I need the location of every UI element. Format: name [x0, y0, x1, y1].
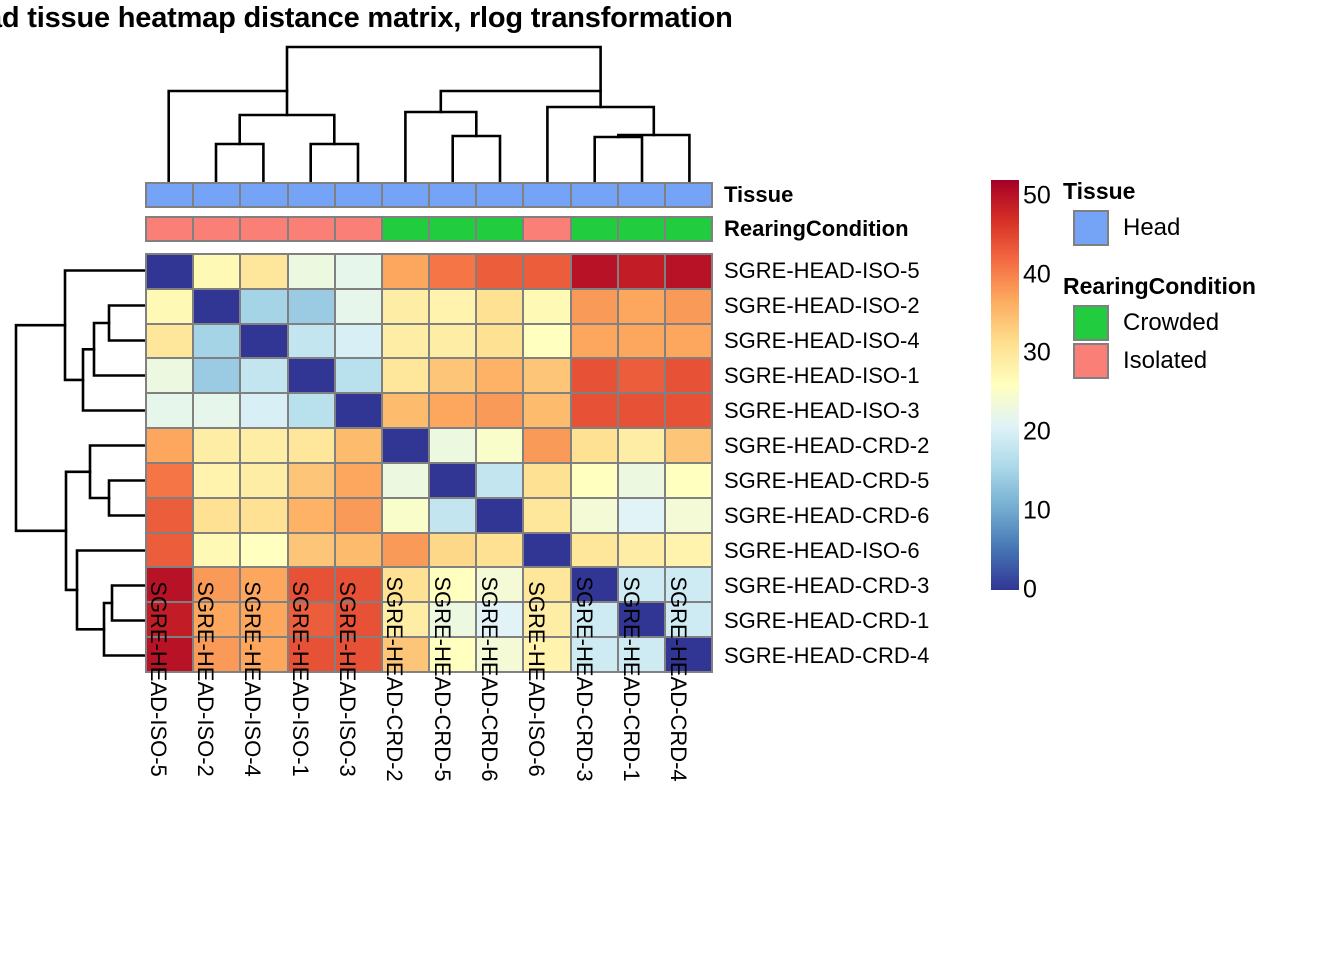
- legend-block-tissue: TissueHead: [1063, 178, 1333, 247]
- heatmap-cell: [194, 534, 239, 567]
- heatmap-cell: [666, 394, 711, 427]
- annotation-cell-rearingcondition: [194, 218, 239, 240]
- heatmap-cell: [336, 290, 381, 323]
- legend-title: Tissue: [1063, 178, 1333, 205]
- annotation-cell-tissue: [147, 184, 192, 206]
- column-label-slot: SGRE-HEAD-CRD-3: [571, 679, 618, 954]
- heatmap-cell: [147, 290, 192, 323]
- annotation-cell-rearingcondition: [289, 218, 334, 240]
- colorbar-tick: 0: [1023, 578, 1037, 603]
- heatmap-cell: [666, 359, 711, 392]
- heatmap-cell: [524, 325, 569, 358]
- legend-entry-label: Crowded: [1123, 309, 1219, 337]
- heatmap-cell: [524, 255, 569, 288]
- heatmap-cell: [572, 429, 617, 462]
- annotation-cell-rearingcondition: [336, 218, 381, 240]
- heatmap-cell: [383, 290, 428, 323]
- row-label: SGRE-HEAD-CRD-5: [724, 463, 1024, 498]
- heatmap-cell: [336, 464, 381, 497]
- annotation-cell-rearingcondition: [524, 218, 569, 240]
- heatmap-cell: [477, 290, 522, 323]
- column-label: SGRE-HEAD-CRD-5: [431, 576, 453, 781]
- heatmap-cell: [619, 499, 664, 532]
- heatmap-cell: [194, 499, 239, 532]
- column-label: SGRE-HEAD-CRD-3: [573, 576, 595, 781]
- annotation-cell-tissue: [194, 184, 239, 206]
- heatmap-cell: [241, 394, 286, 427]
- column-label: SGRE-HEAD-ISO-3: [336, 581, 358, 777]
- heatmap-cell: [336, 429, 381, 462]
- heatmap-cell: [572, 464, 617, 497]
- heatmap-cell: [383, 499, 428, 532]
- row-label: SGRE-HEAD-ISO-1: [724, 358, 1024, 393]
- heatmap-cell: [430, 499, 475, 532]
- heatmap-cell: [241, 499, 286, 532]
- heatmap-cell: [194, 325, 239, 358]
- heatmap-cell: [147, 464, 192, 497]
- row-label: SGRE-HEAD-ISO-4: [724, 323, 1024, 358]
- heatmap-cell: [430, 429, 475, 462]
- heatmap-cell: [383, 394, 428, 427]
- heatmap-cell: [194, 464, 239, 497]
- heatmap-cell: [619, 325, 664, 358]
- heatmap-cell: [336, 359, 381, 392]
- column-label: SGRE-HEAD-CRD-6: [478, 576, 500, 781]
- heatmap-cell: [572, 325, 617, 358]
- colorbar-tick: 50: [1023, 183, 1051, 208]
- heatmap-cell: [666, 534, 711, 567]
- heatmap-cell: [430, 290, 475, 323]
- annotation-bar-rearingcondition: [145, 216, 713, 242]
- heatmap-cell: [524, 290, 569, 323]
- column-label: SGRE-HEAD-ISO-1: [289, 581, 311, 777]
- heatmap-cell: [383, 255, 428, 288]
- annotation-cell-rearingcondition: [383, 218, 428, 240]
- heatmap-cell: [572, 255, 617, 288]
- heatmap-cell: [241, 429, 286, 462]
- heatmap-cell: [241, 534, 286, 567]
- heatmap-cell: [336, 534, 381, 567]
- row-label: SGRE-HEAD-ISO-2: [724, 288, 1024, 323]
- heatmap-cell: [383, 325, 428, 358]
- annotation-cell-rearingcondition: [572, 218, 617, 240]
- heatmap-cell: [477, 255, 522, 288]
- annotation-cell-tissue: [619, 184, 664, 206]
- heatmap-cell: [241, 290, 286, 323]
- colorbar-tick: 30: [1023, 341, 1051, 366]
- legend-panel: TissueHeadRearingConditionCrowdedIsolate…: [1063, 178, 1333, 380]
- heatmap-cell: [383, 359, 428, 392]
- annotation-cell-rearingcondition: [147, 218, 192, 240]
- heatmap-cell: [430, 325, 475, 358]
- heatmap-cell: [289, 359, 334, 392]
- heatmap-cell: [289, 290, 334, 323]
- legend-title: RearingCondition: [1063, 273, 1333, 300]
- annotation-cell-tissue: [289, 184, 334, 206]
- heatmap-cell: [430, 534, 475, 567]
- heatmap-cell: [241, 255, 286, 288]
- annotation-label-rearingcondition: RearingCondition: [724, 216, 909, 242]
- heatmap-cell: [572, 499, 617, 532]
- heatmap-cell: [147, 499, 192, 532]
- heatmap-cell: [383, 534, 428, 567]
- heatmap-cell: [477, 499, 522, 532]
- heatmap-cell: [430, 464, 475, 497]
- heatmap-cell: [289, 394, 334, 427]
- heatmap-cell: [289, 534, 334, 567]
- heatmap-cell: [336, 499, 381, 532]
- annotation-cell-tissue: [430, 184, 475, 206]
- heatmap-cell: [477, 464, 522, 497]
- column-label-slot: SGRE-HEAD-CRD-6: [476, 679, 523, 954]
- row-label: SGRE-HEAD-CRD-6: [724, 498, 1024, 533]
- heatmap-cell: [477, 394, 522, 427]
- annotation-cell-tissue: [241, 184, 286, 206]
- annotation-cell-tissue: [383, 184, 428, 206]
- heatmap-cell: [147, 534, 192, 567]
- heatmap-cell: [666, 429, 711, 462]
- legend-entry[interactable]: Isolated: [1063, 342, 1333, 380]
- annotation-cell-tissue: [336, 184, 381, 206]
- row-dendrogram: [8, 253, 146, 675]
- column-label-slot: SGRE-HEAD-CRD-4: [666, 679, 713, 954]
- heatmap-cell: [194, 394, 239, 427]
- heatmap-cell: [430, 394, 475, 427]
- legend-entry-label: Head: [1123, 214, 1180, 242]
- column-label-slot: SGRE-HEAD-CRD-2: [382, 679, 429, 954]
- heatmap-cell: [619, 464, 664, 497]
- column-label: SGRE-HEAD-ISO-6: [525, 581, 547, 777]
- row-label: SGRE-HEAD-ISO-5: [724, 253, 1024, 288]
- colorbar-tick: 40: [1023, 262, 1051, 287]
- heatmap-cell: [241, 359, 286, 392]
- colorbar-tick: 20: [1023, 420, 1051, 445]
- legend-entry[interactable]: Crowded: [1063, 304, 1333, 342]
- heatmap-cell: [383, 464, 428, 497]
- row-label: SGRE-HEAD-CRD-1: [724, 603, 1024, 638]
- heatmap-cell: [666, 290, 711, 323]
- heatmap-cell: [477, 534, 522, 567]
- column-label: SGRE-HEAD-ISO-2: [194, 581, 216, 777]
- heatmap-cell: [147, 359, 192, 392]
- annotation-cell-tissue: [477, 184, 522, 206]
- heatmap-cell: [572, 534, 617, 567]
- heatmap-cell: [336, 255, 381, 288]
- heatmap-cell: [194, 290, 239, 323]
- column-label: SGRE-HEAD-ISO-4: [241, 581, 263, 777]
- heatmap-cell: [619, 255, 664, 288]
- annotation-cell-rearingcondition: [241, 218, 286, 240]
- row-label-list: SGRE-HEAD-ISO-5SGRE-HEAD-ISO-2SGRE-HEAD-…: [724, 253, 1024, 673]
- heatmap-cell: [289, 499, 334, 532]
- legend-block-rearingcondition: RearingConditionCrowdedIsolated: [1063, 273, 1333, 380]
- column-label-slot: SGRE-HEAD-ISO-4: [240, 679, 287, 954]
- column-label: SGRE-HEAD-CRD-4: [667, 576, 689, 781]
- annotation-cell-rearingcondition: [477, 218, 522, 240]
- heatmap-cell: [147, 394, 192, 427]
- heatmap-cell: [241, 325, 286, 358]
- heatmap-cell: [666, 325, 711, 358]
- heatmap-cell: [477, 359, 522, 392]
- heatmap-cell: [572, 290, 617, 323]
- heatmap-cell: [147, 325, 192, 358]
- legend-entry[interactable]: Head: [1063, 209, 1333, 247]
- heatmap-cell: [289, 325, 334, 358]
- annotation-cell-tissue: [666, 184, 711, 206]
- heatmap-cell: [289, 464, 334, 497]
- annotation-cell-rearingcondition: [666, 218, 711, 240]
- column-label-slot: SGRE-HEAD-CRD-1: [618, 679, 665, 954]
- legend-swatch-icon: [1073, 305, 1109, 341]
- legend-swatch-icon: [1073, 343, 1109, 379]
- heatmap-cell: [241, 464, 286, 497]
- heatmap-cell: [524, 534, 569, 567]
- heatmap-cell: [619, 394, 664, 427]
- row-label: SGRE-HEAD-CRD-2: [724, 428, 1024, 463]
- column-label: SGRE-HEAD-ISO-5: [147, 581, 169, 777]
- annotation-label-tissue: Tissue: [724, 182, 793, 208]
- heatmap-cell: [289, 255, 334, 288]
- heatmap-cell: [619, 429, 664, 462]
- heatmap-cell: [619, 359, 664, 392]
- column-label: SGRE-HEAD-CRD-2: [383, 576, 405, 781]
- heatmap-cell: [666, 499, 711, 532]
- heatmap-cell: [336, 394, 381, 427]
- heatmap-cell: [477, 325, 522, 358]
- heatmap-cell: [194, 429, 239, 462]
- heatmap-cell: [524, 499, 569, 532]
- row-label: SGRE-HEAD-ISO-3: [724, 393, 1024, 428]
- heatmap-cell: [383, 429, 428, 462]
- heatmap-cell: [524, 464, 569, 497]
- legend-entry-label: Isolated: [1123, 347, 1207, 375]
- heatmap-cell: [619, 290, 664, 323]
- heatmap-cell: [430, 359, 475, 392]
- column-label-slot: SGRE-HEAD-ISO-2: [192, 679, 239, 954]
- heatmap-cell: [619, 534, 664, 567]
- column-dendrogram: [145, 44, 715, 186]
- heatmap-cell: [430, 255, 475, 288]
- heatmap-cell: [336, 325, 381, 358]
- heatmap-cell: [289, 429, 334, 462]
- heatmap-cell: [666, 464, 711, 497]
- annotation-cell-tissue: [524, 184, 569, 206]
- heatmap-cell: [666, 255, 711, 288]
- column-label: SGRE-HEAD-CRD-1: [620, 576, 642, 781]
- row-label: SGRE-HEAD-CRD-4: [724, 638, 1024, 673]
- heatmap-cell: [572, 394, 617, 427]
- row-label: SGRE-HEAD-CRD-3: [724, 568, 1024, 603]
- heatmap-cell: [194, 359, 239, 392]
- heatmap-cell: [194, 255, 239, 288]
- heatmap-cell: [147, 429, 192, 462]
- page-title: ad tissue heatmap distance matrix, rlog …: [0, 2, 733, 35]
- colorbar-gradient: [991, 180, 1019, 590]
- heatmap-cell: [524, 394, 569, 427]
- column-label-slot: SGRE-HEAD-ISO-3: [334, 679, 381, 954]
- annotation-cell-tissue: [572, 184, 617, 206]
- heatmap-cell: [524, 429, 569, 462]
- legend-swatch-icon: [1073, 210, 1109, 246]
- colorbar-tick: 10: [1023, 499, 1051, 524]
- column-label-slot: SGRE-HEAD-CRD-5: [429, 679, 476, 954]
- annotation-cell-rearingcondition: [430, 218, 475, 240]
- heatmap-cell: [477, 429, 522, 462]
- heatmap-cell: [572, 359, 617, 392]
- column-label-list: SGRE-HEAD-ISO-5SGRE-HEAD-ISO-2SGRE-HEAD-…: [145, 679, 713, 954]
- heatmap-cell: [147, 255, 192, 288]
- annotation-bar-tissue: [145, 182, 713, 208]
- annotation-cell-rearingcondition: [619, 218, 664, 240]
- row-label: SGRE-HEAD-ISO-6: [724, 533, 1024, 568]
- column-label-slot: SGRE-HEAD-ISO-1: [287, 679, 334, 954]
- column-label-slot: SGRE-HEAD-ISO-5: [145, 679, 192, 954]
- column-label-slot: SGRE-HEAD-ISO-6: [524, 679, 571, 954]
- heatmap-cell: [524, 359, 569, 392]
